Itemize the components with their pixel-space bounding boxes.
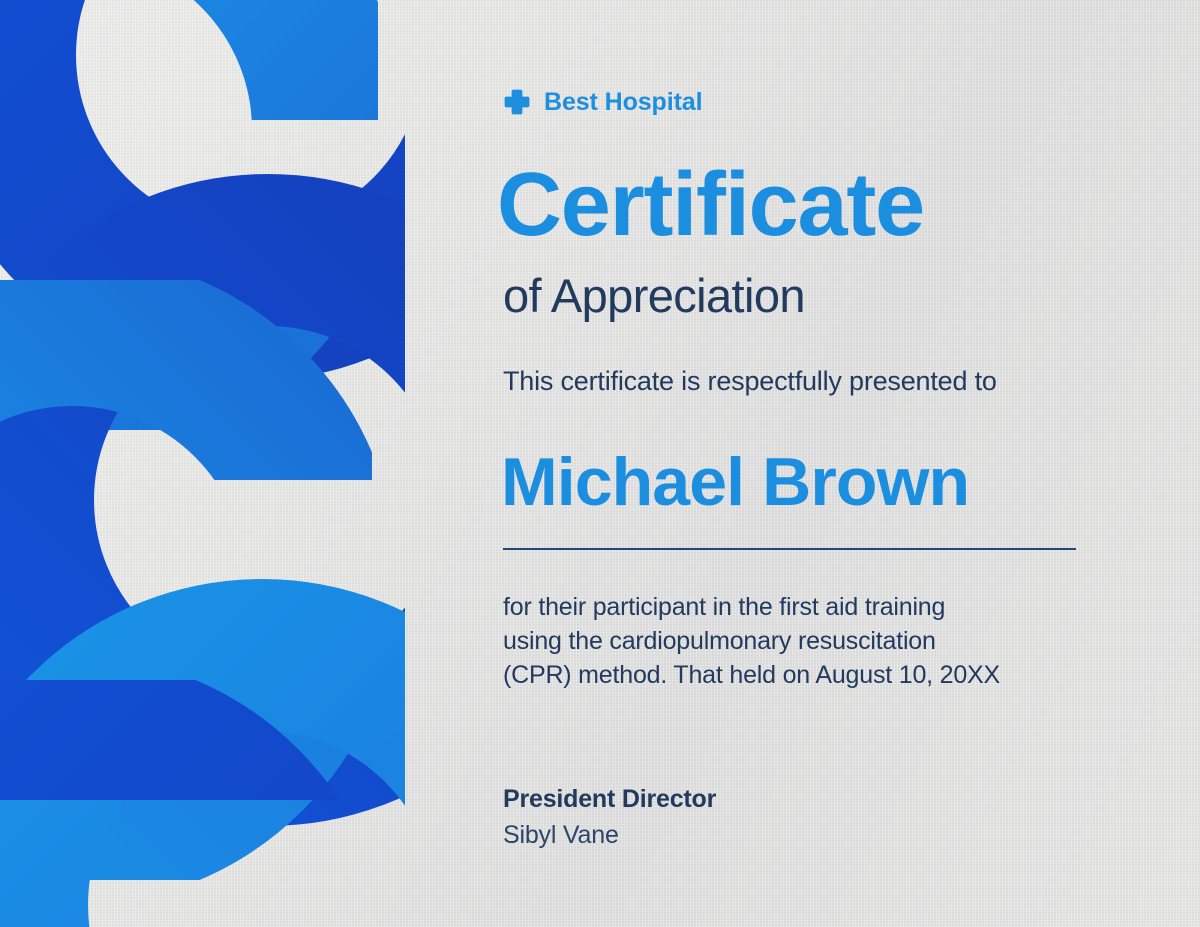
recipient-name: Michael Brown bbox=[501, 448, 969, 516]
certificate-title: Certificate bbox=[497, 160, 924, 250]
body-line-1: for their participant in the first aid t… bbox=[503, 590, 1103, 624]
certificate-page: Best Hospital Certificate of Appreciatio… bbox=[0, 0, 1200, 927]
interlocking-rings-ornament bbox=[0, 0, 405, 927]
body-line-3: (CPR) method. That held on August 10, 20… bbox=[503, 658, 1103, 692]
brand-lockup: Best Hospital bbox=[503, 88, 702, 116]
brand-name: Best Hospital bbox=[544, 90, 702, 115]
body-line-2: using the cardiopulmonary resuscitation bbox=[503, 624, 1103, 658]
certificate-content: Best Hospital Certificate of Appreciatio… bbox=[503, 0, 1103, 927]
recipient-name-divider bbox=[503, 548, 1076, 550]
presentation-lead-in: This certificate is respectfully present… bbox=[503, 365, 997, 397]
medical-cross-icon bbox=[503, 88, 531, 116]
signature-block: President Director Sibyl Vane bbox=[503, 783, 716, 851]
signatory-role: President Director bbox=[503, 783, 716, 816]
certificate-subtitle: of Appreciation bbox=[503, 272, 805, 319]
signatory-name: Sibyl Vane bbox=[503, 819, 716, 852]
certificate-body-text: for their participant in the first aid t… bbox=[503, 590, 1103, 692]
